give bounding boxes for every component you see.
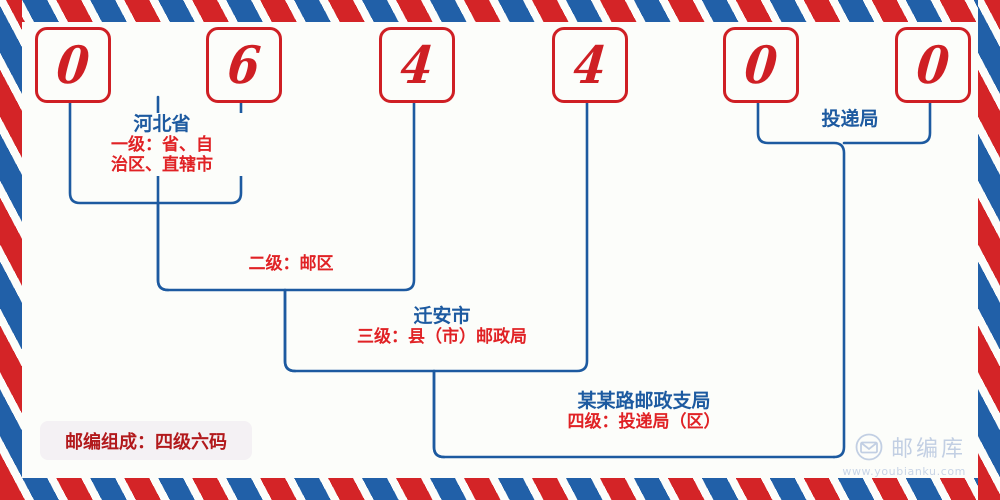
digit-box-2[interactable]: 6 — [206, 27, 282, 103]
digit-2: 6 — [225, 39, 262, 91]
drop-level-1 — [158, 203, 168, 290]
drop-level-2 — [285, 290, 295, 371]
composition-note-badge: 邮编组成：四级六码 — [40, 421, 252, 460]
level-3-tier: 三级：县（市）邮政局 — [316, 327, 568, 347]
level-1-tier-line-1: 一级：省、自 — [81, 135, 243, 155]
watermark: 邮编库 www.youbianku.com — [842, 431, 966, 478]
digit-3: 4 — [398, 39, 435, 91]
level-3-label: 迁安市 三级：县（市）邮政局 — [310, 305, 574, 347]
composition-note-text: 邮编组成：四级六码 — [65, 428, 227, 454]
level-2-tier-line-1: 二级：邮区 — [208, 254, 374, 274]
level-4-tier-line-1: 四级：投递局（区） — [506, 412, 782, 432]
watermark-row: 邮编库 — [854, 431, 966, 463]
digit-4: 4 — [571, 39, 608, 91]
watermark-url: www.youbianku.com — [842, 465, 966, 478]
level-4-place: 某某路邮政支局 — [506, 390, 782, 412]
digit-box-3[interactable]: 4 — [379, 27, 455, 103]
level-4-label: 某某路邮政支局 四级：投递局（区） — [500, 390, 788, 432]
envelope-circle-icon — [854, 432, 884, 462]
digit-5: 0 — [742, 39, 779, 91]
level-1-tier: 一级：省、自 治区、直辖市 — [81, 135, 243, 175]
digit-box-5[interactable]: 0 — [723, 27, 799, 103]
digit-1: 0 — [54, 39, 91, 91]
drop-level-3 — [434, 371, 444, 457]
digit-box-1[interactable]: 0 — [35, 27, 111, 103]
level-2-tier: 二级：邮区 — [208, 254, 374, 274]
postcode-diagram: 0 6 4 4 0 0 河北省 一级：省、自 治区、直辖市 二级：邮区 迁安市 … — [0, 0, 1000, 500]
digit-box-4[interactable]: 4 — [552, 27, 628, 103]
level-1-tier-line-2: 治区、直辖市 — [81, 155, 243, 175]
delivery-office-place: 投递局 — [795, 108, 905, 130]
level-2-label: 二级：邮区 — [202, 254, 380, 274]
digit-6: 0 — [914, 39, 951, 91]
watermark-name: 邮编库 — [891, 431, 966, 463]
delivery-office-label: 投递局 — [789, 108, 911, 130]
level-1-label: 河北省 一级：省、自 治区、直辖市 — [75, 113, 249, 176]
digit-box-6[interactable]: 0 — [895, 27, 971, 103]
level-1-place: 河北省 — [81, 113, 243, 135]
level-3-tier-line-1: 三级：县（市）邮政局 — [316, 327, 568, 347]
level-4-tier: 四级：投递局（区） — [506, 412, 782, 432]
level-3-place: 迁安市 — [316, 305, 568, 327]
